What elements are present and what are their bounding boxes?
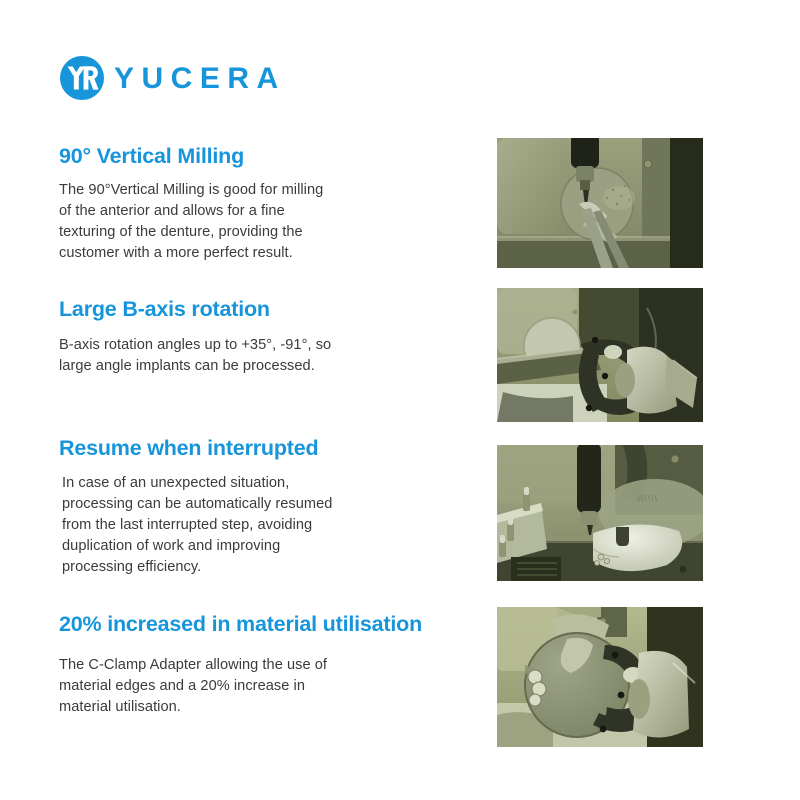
c-clamp-adapter-photo xyxy=(497,607,703,747)
feature-body: B-axis rotation angles up to +35°, -91°,… xyxy=(59,335,459,377)
svg-text:\\\\\\: \\\\\\ xyxy=(637,493,658,503)
feature-block-b-axis-rotation: Large B-axis rotation B-axis rotation an… xyxy=(59,297,459,377)
b-axis-rotation-photo xyxy=(497,288,703,422)
feature-title: Large B-axis rotation xyxy=(59,297,459,322)
feature-title: 90° Vertical Milling xyxy=(59,144,459,169)
feature-title: Resume when interrupted xyxy=(59,436,459,461)
vertical-milling-photo xyxy=(497,138,703,268)
feature-sheet-page: YUCERA 90° Vertical Milling The 90°Verti… xyxy=(0,0,800,800)
feature-body: In case of an unexpected situation, proc… xyxy=(59,473,459,578)
feature-body: The C-Clamp Adapter allowing the use of … xyxy=(59,655,489,718)
feature-title: 20% increased in material utilisation xyxy=(59,612,489,637)
feature-block-material-utilisation: 20% increased in material utilisation Th… xyxy=(59,612,489,718)
feature-body: The 90°Vertical Milling is good for mill… xyxy=(59,180,459,264)
resume-interrupted-photo: \\\\\\ xyxy=(497,445,703,581)
feature-list: 90° Vertical Milling The 90°Vertical Mil… xyxy=(0,0,470,800)
feature-block-resume-interrupted: Resume when interrupted In case of an un… xyxy=(59,436,459,578)
feature-block-vertical-milling: 90° Vertical Milling The 90°Vertical Mil… xyxy=(59,144,459,264)
feature-photo-column: \\\\\\ xyxy=(497,0,703,800)
